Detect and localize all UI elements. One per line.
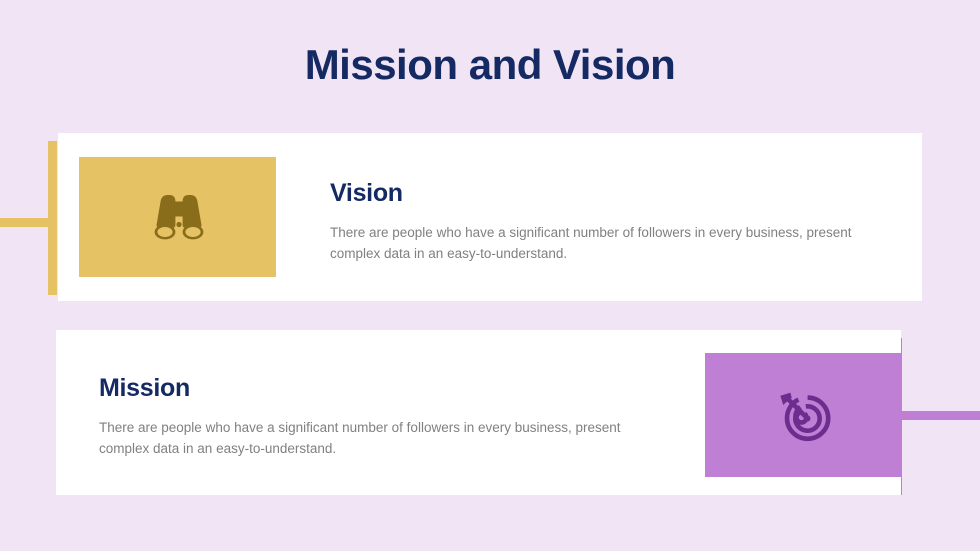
slide-canvas: Mission and Vision	[0, 0, 980, 551]
vision-heading: Vision	[330, 180, 890, 208]
mission-heading: Mission	[99, 375, 659, 403]
target-arrow-icon	[774, 386, 832, 444]
mission-text-block: Mission There are people who have a sign…	[99, 375, 659, 460]
binoculars-icon	[150, 191, 206, 243]
page-title: Mission and Vision	[0, 42, 980, 88]
vision-body-text: There are people who have a significant …	[330, 222, 878, 266]
vision-accent-horizontal-bar	[0, 218, 54, 227]
mission-accent-horizontal-bar	[897, 411, 980, 420]
mission-image-block	[705, 353, 901, 477]
vision-image-block	[79, 157, 276, 277]
vision-text-block: Vision There are people who have a signi…	[330, 180, 890, 265]
mission-body-text: There are people who have a significant …	[99, 417, 647, 461]
